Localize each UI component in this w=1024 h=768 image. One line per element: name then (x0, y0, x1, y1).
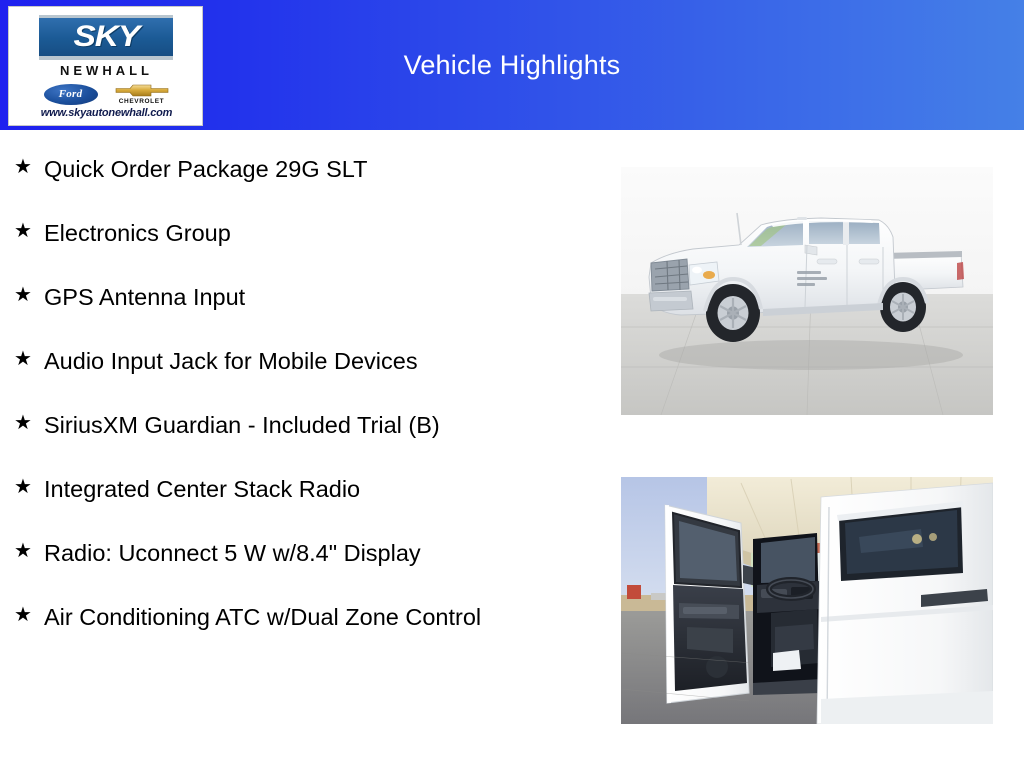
list-item: ★ Air Conditioning ATC w/Dual Zone Contr… (0, 600, 600, 634)
star-icon: ★ (14, 280, 44, 310)
dealer-location-label: NEWHALL (9, 63, 203, 78)
list-item: ★ GPS Antenna Input (0, 280, 600, 314)
star-icon: ★ (14, 536, 44, 566)
dealer-logo-inner: SKY NEWHALL Ford (9, 7, 202, 125)
dealer-logo: SKY NEWHALL Ford (8, 6, 203, 126)
feature-label: Electronics Group (44, 216, 554, 250)
list-item: ★ SiriusXM Guardian - Included Trial (B) (0, 408, 600, 442)
vehicle-photo-interior: SKY (621, 477, 993, 724)
list-item: ★ Quick Order Package 29G SLT (0, 152, 600, 186)
feature-label: GPS Antenna Input (44, 280, 554, 314)
feature-label: Air Conditioning ATC w/Dual Zone Control (44, 600, 554, 634)
interior-door-open-illustration: SKY (621, 477, 993, 724)
dealer-website-url: www.skyautonewhall.com (9, 107, 203, 119)
star-icon: ★ (14, 472, 44, 502)
feature-label: Integrated Center Stack Radio (44, 472, 554, 506)
star-icon: ★ (14, 216, 44, 246)
vehicle-highlights-slide: Vehicle Highlights SKY NEWHALL Ford (0, 0, 1024, 768)
star-icon: ★ (14, 344, 44, 374)
vehicle-features-list: ★ Quick Order Package 29G SLT ★ Electron… (0, 130, 600, 664)
list-item: ★ Integrated Center Stack Radio (0, 472, 600, 506)
star-icon: ★ (14, 152, 44, 182)
feature-label: Audio Input Jack for Mobile Devices (44, 344, 554, 378)
sky-wordmark: SKY (73, 22, 139, 52)
sky-brand-plate: SKY (39, 15, 173, 60)
chevrolet-wordmark: CHEVROLET (113, 98, 171, 105)
list-item: ★ Audio Input Jack for Mobile Devices (0, 344, 600, 378)
ford-logo-icon: Ford (43, 83, 99, 106)
exterior-truck-illustration (621, 167, 993, 415)
chevrolet-bowtie-icon (115, 83, 169, 98)
feature-label: Quick Order Package 29G SLT (44, 152, 554, 186)
feature-label: SiriusXM Guardian - Included Trial (B) (44, 408, 554, 442)
list-item: ★ Electronics Group (0, 216, 600, 250)
list-item: ★ Radio: Uconnect 5 W w/8.4" Display (0, 536, 600, 570)
chevrolet-logo-icon: CHEVROLET (113, 81, 171, 107)
ford-wordmark: Ford (59, 88, 83, 100)
feature-label: Radio: Uconnect 5 W w/8.4" Display (44, 536, 554, 570)
star-icon: ★ (14, 600, 44, 630)
franchise-badges: Ford CHEVROLET (9, 81, 203, 107)
star-icon: ★ (14, 408, 44, 438)
vehicle-photo-exterior (621, 167, 993, 415)
